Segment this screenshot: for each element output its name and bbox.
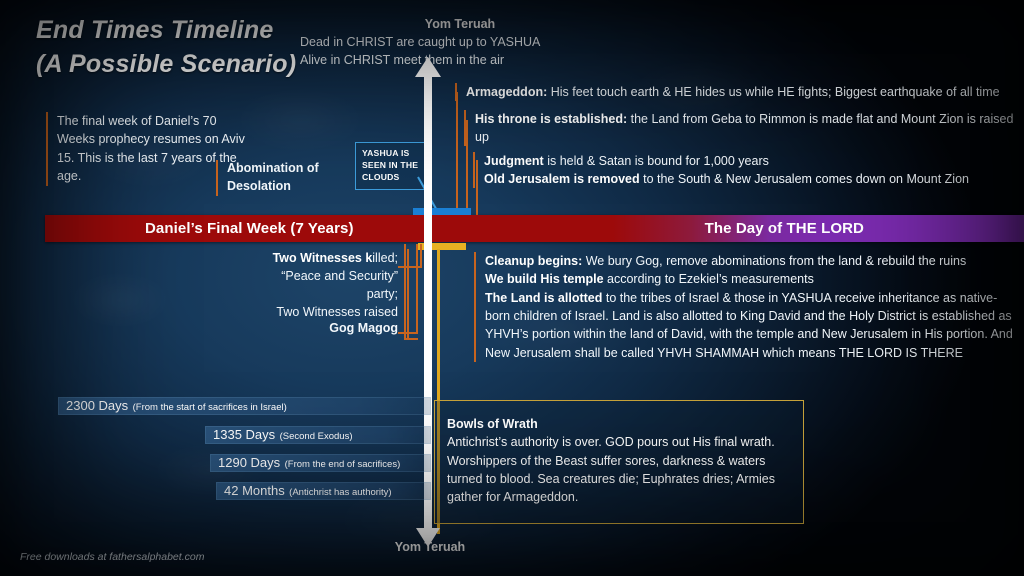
- note-throne-label: His throne is established:: [475, 112, 627, 126]
- note-cleanup-label: Cleanup begins:: [485, 254, 582, 268]
- note-two-witnesses: Two Witnesses killed; “Peace and Securit…: [250, 249, 409, 322]
- connector-two-witnesses-h: [398, 266, 422, 268]
- day-bar-2300-amount: 2300 Days: [66, 398, 128, 413]
- note-judgment-line: Judgment is held & Satan is bound for 1,…: [484, 152, 1024, 170]
- day-bar-42-months-amount: 42 Months: [224, 483, 285, 498]
- note-two-witnesses-line-3: Two Witnesses raised: [250, 303, 398, 321]
- footer-credit: Free downloads at fathersalphabet.com: [20, 551, 204, 563]
- day-bar-2300: 2300 Days (From the start of sacrifices …: [58, 397, 431, 415]
- note-throne-established: His throne is established: the Land from…: [464, 110, 1020, 146]
- note-old-jerusalem-line: Old Jerusalem is removed to the South & …: [484, 170, 1024, 188]
- note-old-jerusalem-text: to the South & New Jerusalem comes down …: [640, 172, 969, 186]
- day-bar-1290-amount: 1290 Days: [218, 455, 280, 470]
- note-millennium-cleanup: Cleanup begins: We bury Gog, remove abom…: [474, 252, 1015, 362]
- note-temple-line: We build His temple according to Ezekiel…: [485, 270, 1015, 288]
- note-armageddon-label: Armageddon:: [466, 85, 547, 99]
- bowls-of-wrath-box: Bowls of Wrath Antichrist’s authority is…: [434, 400, 804, 524]
- note-armageddon: Armageddon: His feet touch earth & HE hi…: [455, 83, 1024, 101]
- rapture-line-dead: Dead in CHRIST are caught up to YASHUA: [300, 33, 760, 51]
- note-temple-text: according to Ezekiel’s measurements: [604, 272, 814, 286]
- bowls-of-wrath-heading: Bowls of Wrath: [447, 415, 789, 433]
- note-land-line: The Land is allotted to the tribes of Is…: [485, 289, 1015, 362]
- timeline-bar: Daniel’s Final Week (7 Years) The Day of…: [45, 215, 1024, 242]
- top-yom-teruah-label: Yom Teruah: [300, 16, 620, 34]
- note-temple-label: We build His temple: [485, 272, 604, 286]
- day-bar-1290-note: (From the end of sacrifices): [285, 459, 401, 470]
- connector-two-witnesses-v: [420, 244, 422, 268]
- connector-throne: [466, 120, 468, 220]
- note-old-jerusalem-label: Old Jerusalem is removed: [484, 172, 640, 186]
- note-cleanup-line: Cleanup begins: We bury Gog, remove abom…: [485, 252, 1015, 270]
- note-judgment-text: is held & Satan is bound for 1,000 years: [544, 154, 769, 168]
- day-bar-1335-note: (Second Exodus): [280, 431, 353, 442]
- rapture-notes: Dead in CHRIST are caught up to YASHUA A…: [300, 33, 760, 69]
- note-cleanup-text: We bury Gog, remove abominations from th…: [582, 254, 966, 268]
- connector-gog-magog-v: [416, 244, 418, 334]
- connector-lower-left-extra: [404, 244, 406, 340]
- day-bar-1290: 1290 Days (From the end of sacrifices): [210, 454, 431, 472]
- note-armageddon-text: His feet touch earth & HE hides us while…: [547, 85, 999, 99]
- connector-gog-magog-h: [398, 332, 418, 334]
- connector-armageddon: [456, 92, 458, 220]
- note-judgment-label: Judgment: [484, 154, 544, 168]
- timeline-bar-left-label: Daniel’s Final Week (7 Years): [145, 215, 354, 242]
- day-bar-2300-note: (From the start of sacrifices in Israel): [133, 402, 287, 413]
- rapture-line-alive: Alive in CHRIST meet them in the air: [300, 51, 760, 69]
- note-gog-magog: Gog Magog: [250, 320, 409, 338]
- timeline-bar-right-label: The Day of THE LORD: [705, 215, 864, 242]
- note-two-witnesses-bold: Two Witnesses k: [273, 251, 373, 265]
- marker-blue-above-bar: [413, 208, 471, 215]
- note-two-witnesses-line-2: “Peace and Security” party;: [250, 267, 398, 303]
- bowls-of-wrath-body: Antichrist’s authority is over. GOD pour…: [447, 433, 789, 506]
- day-bar-1335-amount: 1335 Days: [213, 427, 275, 442]
- note-abomination-of-desolation: Abomination of Desolation: [216, 160, 377, 196]
- note-judgment-and-jerusalem: Judgment is held & Satan is bound for 1,…: [473, 152, 1024, 188]
- day-bar-1335: 1335 Days (Second Exodus): [205, 426, 431, 444]
- bottom-yom-teruah-label: Yom Teruah: [330, 540, 530, 554]
- connector-judgment: [476, 160, 478, 220]
- day-bar-42-months: 42 Months (Antichrist has authority): [216, 482, 431, 500]
- slide-canvas: End Times Timeline (A Possible Scenario)…: [0, 0, 1024, 576]
- note-two-witnesses-line-1: Two Witnesses killed;: [250, 249, 398, 267]
- note-two-witnesses-rest: illed;: [372, 251, 398, 265]
- note-land-label: The Land is allotted: [485, 291, 602, 305]
- connector-lower-left-extra-h: [404, 338, 418, 340]
- day-bar-42-months-note: (Antichrist has authority): [289, 487, 391, 498]
